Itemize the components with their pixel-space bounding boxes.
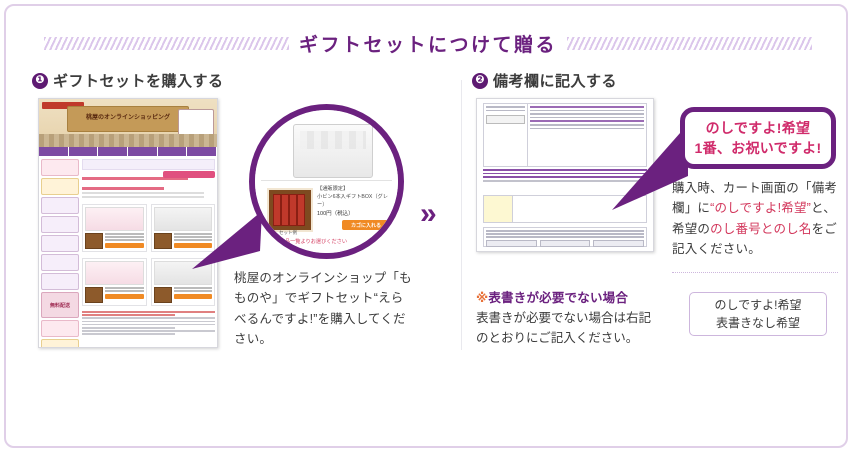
description-line bbox=[82, 324, 215, 326]
product-thumbnail bbox=[154, 287, 172, 303]
product-magnifier: セット例 【通販限定】 小ビン6本入ギフトBOX（グレー） 100円（税込） カ… bbox=[249, 104, 404, 259]
add-to-cart-button[interactable] bbox=[105, 294, 144, 299]
product-label: 【通販限定】 bbox=[317, 186, 348, 192]
label-line bbox=[486, 106, 525, 108]
speech-bubble-pointer bbox=[612, 124, 688, 210]
gift-set-caption: セット例 bbox=[267, 230, 309, 236]
step-2-number: ❷ bbox=[472, 73, 488, 89]
description-line bbox=[82, 333, 175, 335]
product-row bbox=[85, 233, 144, 249]
sidebar-banner bbox=[41, 273, 79, 290]
product-text-line bbox=[105, 290, 144, 292]
sidebar-banner bbox=[41, 178, 79, 195]
sidebar-banner bbox=[41, 320, 79, 337]
sidebar-banner bbox=[41, 339, 79, 348]
sidebar-banner bbox=[41, 235, 79, 252]
magnifier-pointer bbox=[192, 211, 262, 273]
detail-line bbox=[530, 117, 644, 119]
description-line bbox=[82, 330, 215, 332]
nav-item bbox=[187, 147, 217, 156]
nav-item bbox=[98, 147, 128, 156]
bottle bbox=[281, 194, 289, 226]
content-text-line bbox=[82, 192, 204, 194]
product-card bbox=[82, 258, 147, 306]
cart-option-label-col bbox=[484, 104, 528, 166]
product-image bbox=[85, 207, 144, 231]
hatch-decoration-left bbox=[44, 37, 289, 50]
cart-guest-button[interactable] bbox=[540, 240, 591, 247]
description-line bbox=[82, 314, 175, 316]
instruction-card: ギフトセットにつけて贈る ❶ ギフトセットを購入する ❷ 備考欄に記入する 桃屋… bbox=[4, 4, 848, 448]
add-to-cart-button[interactable] bbox=[105, 243, 144, 248]
step-1-title: ギフトセットを購入する bbox=[53, 70, 224, 91]
free-shipping-banner: 無料配送 bbox=[41, 292, 79, 318]
desc-part-highlight: “のしですよ!希望” bbox=[710, 201, 811, 215]
product-image bbox=[85, 261, 144, 285]
detail-line bbox=[530, 113, 644, 115]
product-thumbnail bbox=[85, 287, 103, 303]
product-row bbox=[85, 287, 144, 303]
description-line bbox=[82, 327, 175, 329]
description-line bbox=[82, 321, 215, 323]
gift-set-thumbnail bbox=[267, 188, 313, 232]
product-text bbox=[105, 287, 144, 303]
no-inscription-section: ※表書きが必要でない場合 表書きが必要でない場合は右記のとおりにご記入ください。 bbox=[476, 287, 656, 349]
bottle bbox=[273, 194, 281, 226]
title-row: ギフトセットにつけて贈る bbox=[6, 28, 850, 58]
step-2-title: 備考欄に記入する bbox=[493, 70, 617, 91]
product-thumbnail bbox=[85, 233, 103, 249]
site-sidebar: 無料配送 bbox=[41, 159, 79, 345]
dotted-separator bbox=[672, 272, 838, 273]
detail-line bbox=[530, 120, 644, 122]
step-arrow-icon: » bbox=[420, 199, 437, 229]
description-line bbox=[82, 311, 215, 313]
magnifier-separator bbox=[261, 180, 392, 181]
cart-footer-box bbox=[483, 227, 647, 247]
bottle bbox=[297, 194, 305, 226]
detail-line bbox=[530, 106, 644, 108]
content-action-button bbox=[163, 171, 215, 178]
site-logo-title: 桃屋のオンラインショッピング bbox=[86, 115, 170, 123]
step-2-description: 購入時、カート画面の「備考欄」に“のしですよ!希望”と、希望ののし番号とのし名を… bbox=[672, 178, 844, 259]
site-header-rail bbox=[39, 134, 217, 147]
nav-item bbox=[69, 147, 99, 156]
site-navbar bbox=[39, 147, 217, 156]
asterisk-marker: ※ bbox=[476, 291, 488, 305]
nav-item bbox=[158, 147, 188, 156]
step-1-header: ❶ ギフトセットを購入する bbox=[32, 70, 224, 91]
add-to-cart-button[interactable] bbox=[174, 294, 213, 299]
gift-box-image bbox=[293, 124, 373, 178]
product-text-line bbox=[105, 239, 144, 241]
product-card bbox=[82, 204, 147, 252]
desc-part-highlight: のし番号とのし名 bbox=[710, 222, 811, 236]
content-text-line bbox=[82, 196, 204, 198]
step-1-description: 桃屋のオンラインショップ「もものや」でギフトセット“えらべるんですよ!”を購入し… bbox=[234, 268, 416, 349]
product-thumbnail bbox=[154, 233, 172, 249]
desc-part: 購入時、カート画面の「備 bbox=[672, 181, 824, 195]
product-text-line bbox=[105, 287, 144, 289]
add-to-cart-button[interactable]: カゴに入れる bbox=[342, 220, 390, 230]
footer-line bbox=[486, 236, 644, 238]
footer-line bbox=[486, 233, 644, 235]
bubble-line-2: 1番、お祝いですよ! bbox=[694, 138, 821, 158]
site-logo: 桃屋のオンラインショッピング bbox=[67, 106, 189, 132]
product-selection-note: ※該当商品一覧よりお選びください bbox=[265, 238, 347, 245]
remarks-label bbox=[484, 196, 513, 222]
sample-line-1: のしですよ!希望 bbox=[715, 296, 802, 314]
step-1-number: ❶ bbox=[32, 73, 48, 89]
no-inscription-heading-text: 表書きが必要でない場合 bbox=[488, 291, 628, 305]
product-name: 小ビン6本入ギフトBOX（グレー） bbox=[317, 194, 388, 208]
cart-option-select[interactable] bbox=[486, 115, 525, 124]
product-text bbox=[174, 287, 213, 303]
detail-line bbox=[530, 110, 644, 112]
nav-item bbox=[39, 147, 69, 156]
product-price: 100円（税込） bbox=[317, 210, 392, 218]
sidebar-banner bbox=[41, 254, 79, 271]
column-divider bbox=[461, 80, 462, 350]
bubble-line-1: のしですよ!希望 bbox=[706, 118, 811, 138]
content-description-block bbox=[82, 311, 215, 335]
product-info: 【通販限定】 小ビン6本入ギフトBOX（グレー） 100円（税込） bbox=[317, 186, 392, 219]
product-row bbox=[154, 287, 213, 303]
product-text-line bbox=[174, 290, 213, 292]
cart-member-button[interactable] bbox=[593, 240, 644, 247]
step-2-header: ❷ 備考欄に記入する bbox=[472, 70, 617, 91]
magnifier-content: セット例 【通販限定】 小ビン6本入ギフトBOX（グレー） 100円（税込） カ… bbox=[255, 110, 398, 253]
bottle bbox=[289, 194, 297, 226]
description-line bbox=[82, 317, 215, 319]
sidebar-banner bbox=[41, 216, 79, 233]
label-line bbox=[486, 110, 525, 112]
site-header: 桃屋のオンラインショッピング bbox=[39, 99, 217, 147]
remarks-example-bubble: のしですよ!希望 1番、お祝いですよ! bbox=[680, 107, 836, 169]
no-inscription-body: 表書きが必要でない場合は右記のとおりにご記入ください。 bbox=[476, 308, 656, 349]
product-text-line bbox=[174, 287, 213, 289]
no-inscription-sample-box: のしですよ!希望 表書きなし希望 bbox=[689, 292, 827, 336]
hatch-decoration-right bbox=[567, 37, 812, 50]
breadcrumb bbox=[82, 159, 215, 170]
product-text bbox=[105, 233, 144, 249]
sidebar-banner bbox=[41, 197, 79, 214]
shop-page-screenshot: 桃屋のオンラインショッピング 無料配送 bbox=[38, 98, 218, 348]
sample-line-2: 表書きなし希望 bbox=[716, 314, 800, 332]
nav-item bbox=[128, 147, 158, 156]
cart-back-button[interactable] bbox=[486, 240, 537, 247]
content-notice-line bbox=[82, 187, 164, 190]
product-text-line bbox=[105, 236, 144, 238]
page-title: ギフトセットにつけて贈る bbox=[299, 30, 557, 57]
sidebar-banner bbox=[41, 159, 79, 176]
footer-line bbox=[486, 230, 644, 232]
product-text-line bbox=[105, 233, 144, 235]
cart-footer-buttons bbox=[486, 240, 644, 247]
no-inscription-heading: ※表書きが必要でない場合 bbox=[476, 287, 656, 306]
